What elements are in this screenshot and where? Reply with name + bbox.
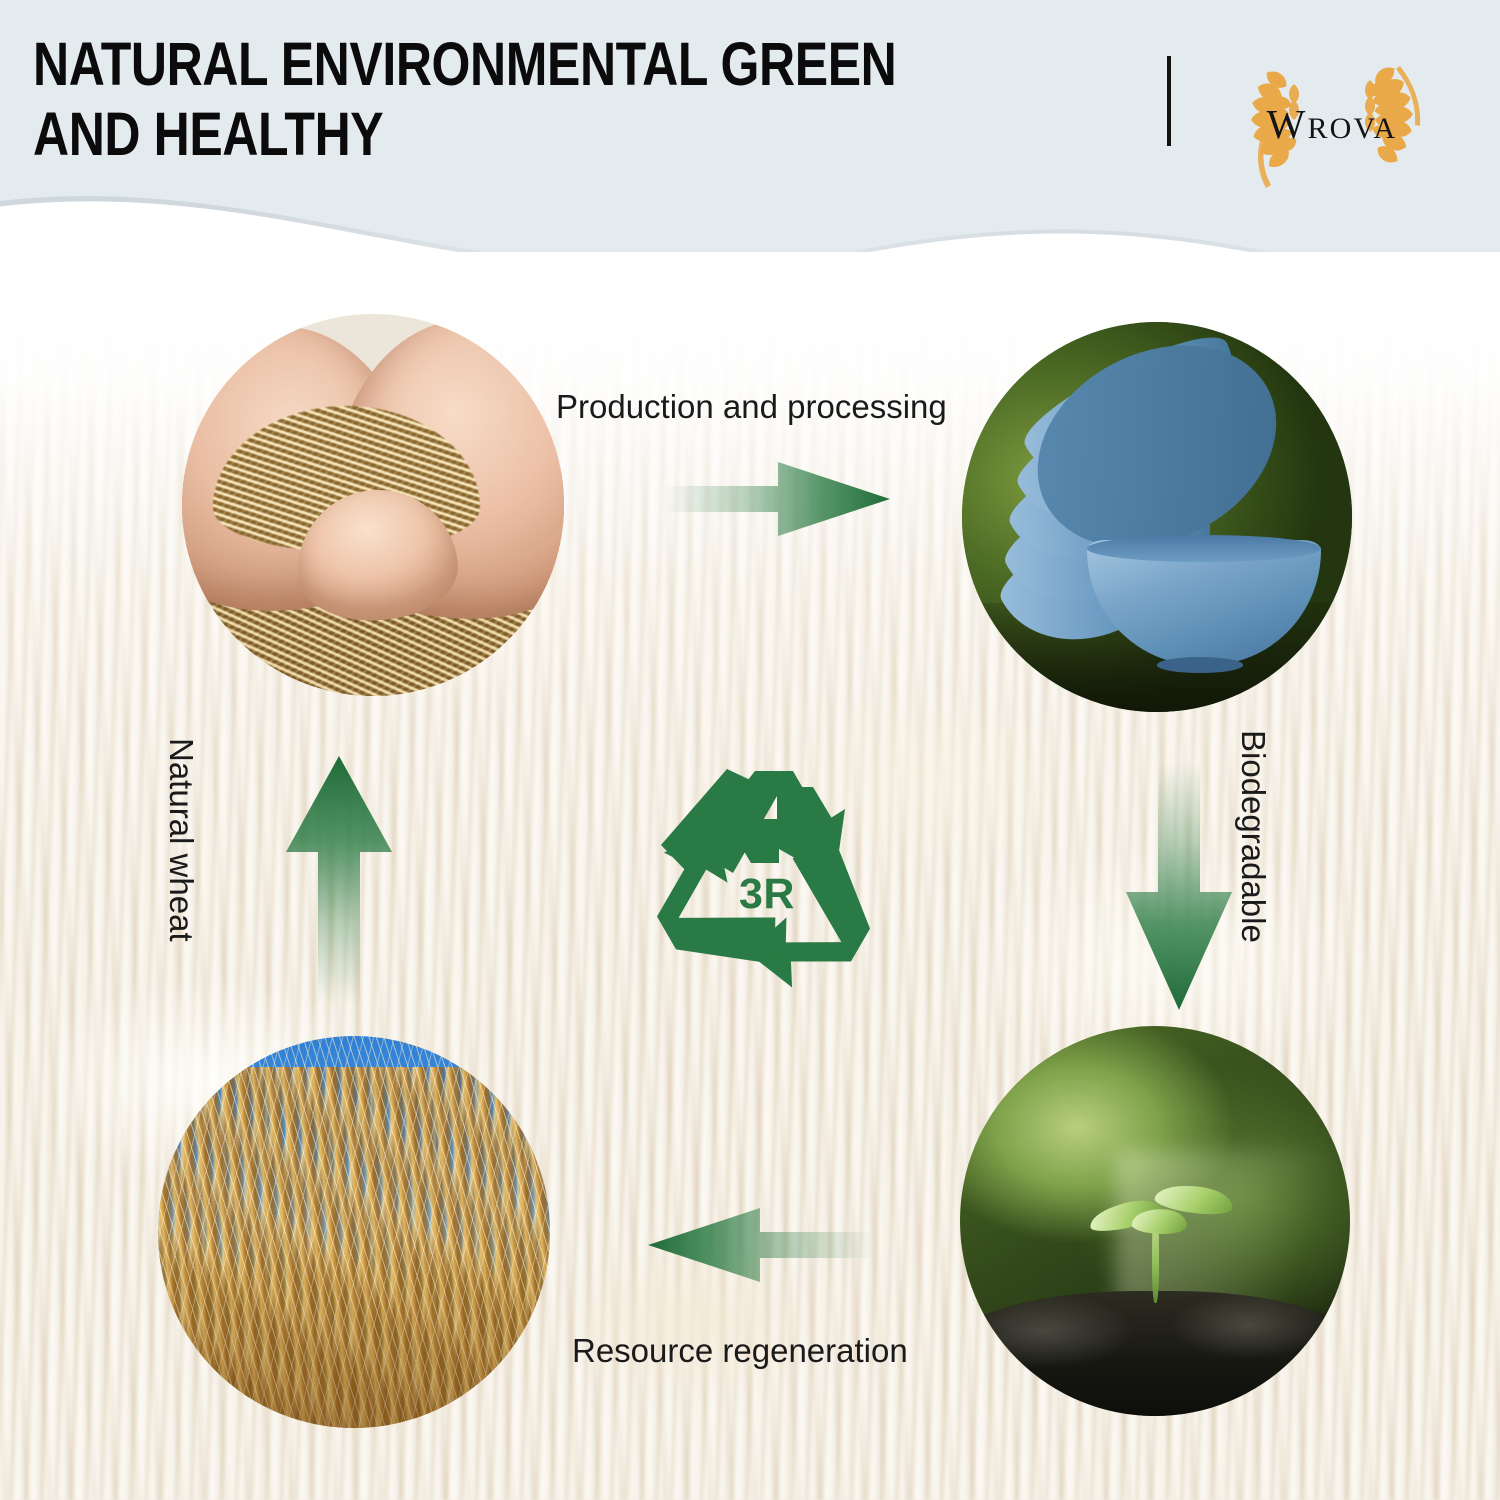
brand-wordmark-w: W [1267,101,1308,147]
brand-wordmark-rest: ROVA [1307,112,1397,145]
brand-wordmark: WROVA [1222,100,1442,148]
soil-mound [960,1291,1350,1416]
golden-wheat-ears-photo [158,1036,550,1428]
infographic-page: NATURAL ENVIRONMENTAL GREEN AND HEALTHY [0,0,1500,1500]
label-biodegradable: Biodegradable [1234,730,1272,943]
hands-holding-wheat-grain-photo [182,314,564,696]
field-photo-shadow [158,1248,550,1428]
front-bowl-rim [1087,535,1321,562]
header-bar: NATURAL ENVIRONMENTAL GREEN AND HEALTHY [0,0,1500,252]
arrow-left-icon [648,1202,874,1312]
arrow-up-icon [284,756,394,1004]
blue-wheat-straw-bowls-photo [962,322,1352,712]
green-seedling-in-soil-photo [960,1026,1350,1416]
recycle-symbol: 3R [633,755,901,1017]
arrow-right-icon [664,444,890,554]
front-bowl-foot [1157,657,1243,673]
recycle-label-3r: 3R [633,870,901,919]
label-natural-wheat: Natural wheat [162,738,200,942]
label-resource-regeneration: Resource regeneration [572,1332,908,1370]
page-title: NATURAL ENVIRONMENTAL GREEN AND HEALTHY [33,30,943,169]
brand-logo: WROVA [1222,22,1442,212]
label-production-and-processing: Production and processing [556,388,947,426]
arrow-down-icon [1124,762,1234,1010]
header-divider [1167,56,1171,146]
